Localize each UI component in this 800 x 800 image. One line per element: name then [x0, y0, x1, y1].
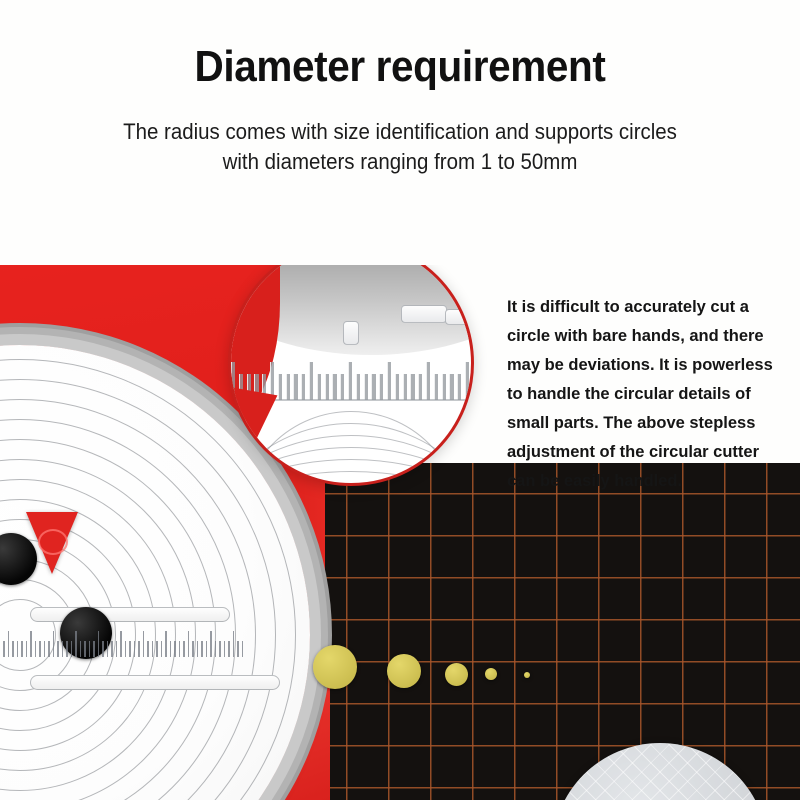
- magnified-ruler-tick: [286, 374, 290, 400]
- magnified-ruler-tick: [379, 374, 383, 400]
- ruler-tick: [71, 641, 73, 657]
- ruler-tick: [129, 641, 131, 657]
- ruler-tick: [66, 641, 68, 657]
- ruler-tick: [21, 641, 23, 657]
- ruler-tick: [215, 641, 217, 657]
- magnified-ruler-tick: [293, 374, 297, 400]
- product-feature-image: Diameter requirement The radius comes wi…: [0, 0, 800, 800]
- magnified-ruler-tick: [325, 374, 329, 400]
- magnified-plastic-clip: [401, 305, 447, 323]
- ruler-tick: [156, 641, 158, 657]
- ruler-tick: [206, 641, 208, 657]
- magnified-ruler-tick: [418, 374, 422, 400]
- ruler-tick: [39, 641, 41, 657]
- magnified-ruler-tick: [434, 374, 438, 400]
- ruler-tick: [228, 641, 230, 657]
- magnified-ruler-tick: [309, 362, 313, 400]
- ruler-tick: [201, 641, 203, 657]
- magnifier-callout: [228, 265, 474, 486]
- magnified-ruler-tick: [332, 374, 336, 400]
- header-band: Diameter requirement The radius comes wi…: [0, 0, 800, 265]
- magnified-ruler-tick: [426, 362, 430, 400]
- ruler-tick: [75, 631, 77, 657]
- ruler-tick: [116, 641, 118, 657]
- cut-brass-disc: [485, 668, 497, 680]
- ruler-tick: [57, 641, 59, 657]
- ruler-tick: [143, 631, 145, 657]
- callout-paragraph: It is difficult to accurately cut a circ…: [507, 292, 782, 495]
- page-title: Diameter requirement: [32, 42, 768, 92]
- ruler-tick: [174, 641, 176, 657]
- ruler-tick: [233, 631, 235, 657]
- ruler-tick: [188, 631, 190, 657]
- cut-brass-disc: [313, 645, 357, 689]
- magnified-ruler-tick: [387, 362, 391, 400]
- ruler-tick: [3, 641, 5, 657]
- magnified-ruler-tick: [395, 374, 399, 400]
- cutting-mat: [310, 463, 800, 800]
- ruler-tick: [237, 641, 239, 657]
- cutter-slide-slot[interactable]: [30, 607, 230, 622]
- dial-ruler-ticks: [0, 623, 245, 657]
- ruler-tick: [197, 641, 199, 657]
- ruler-tick: [93, 641, 95, 657]
- ruler-tick: [183, 641, 185, 657]
- magnified-ruler-tick: [465, 362, 469, 400]
- ruler-tick: [170, 641, 172, 657]
- magnified-ruler-tick: [442, 374, 446, 400]
- magnified-ruler-tick: [278, 374, 282, 400]
- ruler-tick: [120, 631, 122, 657]
- ruler-tick: [179, 641, 181, 657]
- magnified-plastic-clip: [343, 321, 359, 345]
- ruler-tick: [48, 641, 50, 657]
- ruler-tick: [242, 641, 244, 657]
- magnified-ruler-tick: [301, 374, 305, 400]
- magnified-ruler-tick: [364, 374, 368, 400]
- ruler-tick: [8, 631, 10, 657]
- ruler-tick: [17, 641, 19, 657]
- magnified-plastic-clip: [445, 309, 473, 325]
- magnified-ruler-tick: [403, 374, 407, 400]
- magnified-ruler-tick: [449, 374, 453, 400]
- ruler-tick: [102, 641, 104, 657]
- ruler-tick: [192, 641, 194, 657]
- ruler-tick: [26, 641, 28, 657]
- ruler-tick: [84, 641, 86, 657]
- magnified-ruler-tick: [410, 374, 414, 400]
- ruler-tick: [134, 641, 136, 657]
- ruler-tick: [125, 641, 127, 657]
- ruler-tick: [98, 631, 100, 657]
- ruler-tick: [53, 631, 55, 657]
- ruler-tick: [138, 641, 140, 657]
- ruler-tick: [219, 641, 221, 657]
- ruler-tick: [111, 641, 113, 657]
- ruler-tick: [35, 641, 37, 657]
- ruler-tick: [30, 631, 32, 657]
- ruler-tick: [161, 641, 163, 657]
- cut-brass-disc: [387, 654, 421, 688]
- ruler-tick: [224, 641, 226, 657]
- ruler-tick: [80, 641, 82, 657]
- ruler-tick: [152, 641, 154, 657]
- ruler-tick: [147, 641, 149, 657]
- magnified-ruler-tick: [348, 362, 352, 400]
- ruler-tick: [44, 641, 46, 657]
- ruler-tick: [107, 641, 109, 657]
- ruler-tick: [210, 631, 212, 657]
- magnified-ruler-tick: [356, 374, 360, 400]
- ruler-tick: [12, 641, 14, 657]
- magnified-ruler-tick: [340, 374, 344, 400]
- ruler-tick: [62, 641, 64, 657]
- magnified-ruler-tick: [457, 374, 461, 400]
- magnified-ruler-tick: [317, 374, 321, 400]
- ruler-tick: [89, 641, 91, 657]
- cutter-slide-slot[interactable]: [30, 675, 280, 690]
- page-subtitle: The radius comes with size identificatio…: [112, 117, 689, 177]
- ruler-tick: [165, 631, 167, 657]
- cut-brass-disc: [445, 663, 468, 686]
- pointer-ring-icon: [38, 529, 68, 555]
- magnified-ruler-tick: [371, 374, 375, 400]
- cut-brass-disc: [524, 672, 530, 678]
